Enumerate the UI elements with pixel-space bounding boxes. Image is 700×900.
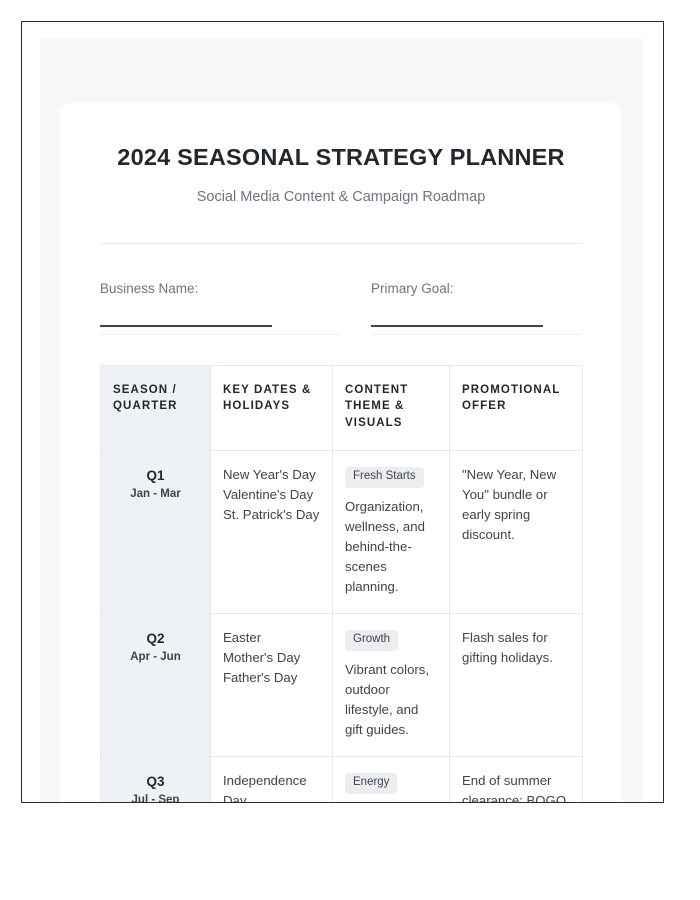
table-row: Q1 Jan - Mar New Year's Day Valentine's …: [101, 450, 583, 613]
theme-badge: Energy: [345, 773, 397, 794]
cell-season-q3: Q3 Jul - Sep: [101, 756, 211, 803]
quarter-label: Q2: [113, 630, 198, 648]
column-header-key-dates: KEY DATES & HOLIDAYS: [211, 365, 333, 450]
field-business-name-writeline: [100, 325, 272, 327]
field-primary-goal-label: Primary Goal:: [371, 280, 582, 298]
column-header-promotional-offer: PROMOTIONAL OFFER: [450, 365, 583, 450]
table-body: Q1 Jan - Mar New Year's Day Valentine's …: [101, 450, 583, 803]
field-business-name-label: Business Name:: [100, 280, 341, 298]
field-primary-goal: Primary Goal:: [341, 280, 582, 335]
table-row: Q3 Jul - Sep Independence Day Back to Sc…: [101, 756, 583, 803]
cell-content-theme-q1: Fresh Starts Organization, wellness, and…: [333, 450, 450, 613]
quarter-range: Jul - Sep: [113, 792, 198, 803]
key-date: St. Patrick's Day: [223, 505, 320, 525]
key-date: Father's Day: [223, 668, 320, 688]
theme-description: Organization, wellness, and behind-the-s…: [345, 497, 437, 597]
cell-content-theme-q3: Energy Summer adventures, preparation, a…: [333, 756, 450, 803]
theme-description: Vibrant colors, outdoor lifestyle, and g…: [345, 660, 437, 740]
table-header: SEASON / QUARTER KEY DATES & HOLIDAYS CO…: [101, 365, 583, 450]
cell-key-dates-q3: Independence Day Back to School Labor Da…: [211, 756, 333, 803]
field-business-name: Business Name:: [100, 280, 341, 335]
cell-promotional-offer-q1: "New Year, New You" bundle or early spri…: [450, 450, 583, 613]
theme-badge: Growth: [345, 630, 398, 651]
table-row: Q2 Apr - Jun Easter Mother's Day Father'…: [101, 613, 583, 756]
key-date: Independence Day: [223, 771, 320, 803]
cell-key-dates-q2: Easter Mother's Day Father's Day: [211, 613, 333, 756]
table-header-row: SEASON / QUARTER KEY DATES & HOLIDAYS CO…: [101, 365, 583, 450]
form-fields-row: Business Name: Primary Goal:: [100, 280, 582, 335]
theme-badge: Fresh Starts: [345, 467, 424, 488]
quarter-label: Q1: [113, 467, 198, 485]
cell-key-dates-q1: New Year's Day Valentine's Day St. Patri…: [211, 450, 333, 613]
cell-season-q1: Q1 Jan - Mar: [101, 450, 211, 613]
field-primary-goal-writeline: [371, 325, 543, 327]
key-date: Easter: [223, 628, 320, 648]
cell-promotional-offer-q2: Flash sales for gifting holidays.: [450, 613, 583, 756]
cell-promotional-offer-q3: End of summer clearance; BOGO deals.: [450, 756, 583, 803]
quarter-range: Apr - Jun: [113, 649, 198, 665]
quarter-range: Jan - Mar: [113, 486, 198, 502]
document-card: 2024 SEASONAL STRATEGY PLANNER Social Me…: [60, 103, 622, 803]
page-subtitle: Social Media Content & Campaign Roadmap: [100, 188, 582, 207]
seasonal-planner-table: SEASON / QUARTER KEY DATES & HOLIDAYS CO…: [100, 365, 583, 803]
header-divider: [100, 243, 582, 244]
quarter-label: Q3: [113, 773, 198, 791]
field-business-name-input[interactable]: [100, 310, 341, 335]
key-date: Mother's Day: [223, 648, 320, 668]
field-primary-goal-input[interactable]: [371, 310, 582, 335]
column-header-season: SEASON / QUARTER: [101, 365, 211, 450]
key-date: Valentine's Day: [223, 485, 320, 505]
key-date: New Year's Day: [223, 465, 320, 485]
page-backdrop: 2024 SEASONAL STRATEGY PLANNER Social Me…: [40, 38, 642, 803]
page-title: 2024 SEASONAL STRATEGY PLANNER: [100, 143, 582, 172]
cell-season-q2: Q2 Apr - Jun: [101, 613, 211, 756]
browser-viewport-frame: 2024 SEASONAL STRATEGY PLANNER Social Me…: [21, 21, 664, 803]
cell-content-theme-q2: Growth Vibrant colors, outdoor lifestyle…: [333, 613, 450, 756]
column-header-content-theme: CONTENT THEME & VISUALS: [333, 365, 450, 450]
